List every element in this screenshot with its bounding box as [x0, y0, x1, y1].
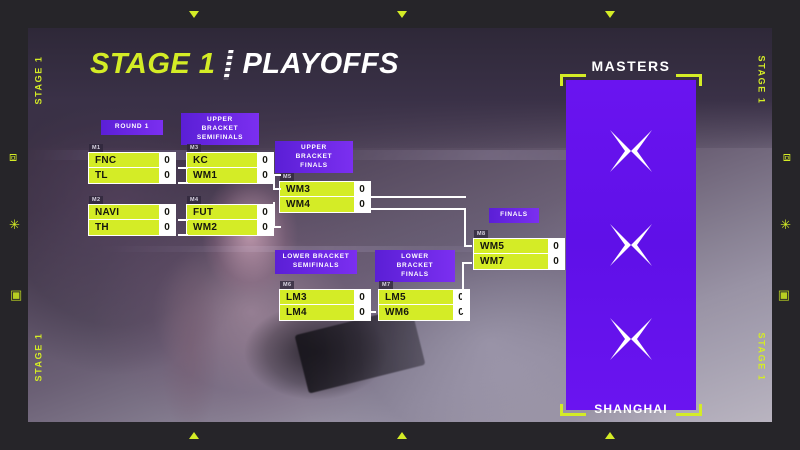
table-row[interactable]: FNC 0	[89, 153, 175, 168]
match-id: M6	[280, 281, 294, 289]
table-row[interactable]: LM5 0	[379, 290, 469, 305]
match-card[interactable]: M8 WM5 0 WM7 0	[473, 238, 565, 270]
team-score: 0	[257, 220, 273, 235]
connector	[273, 174, 275, 188]
table-row[interactable]: WM3 0	[280, 182, 370, 197]
team-score: 0	[257, 153, 273, 167]
team-score: 0	[354, 197, 370, 212]
match-id: M7	[379, 281, 393, 289]
table-row[interactable]: LM3 0	[280, 290, 370, 305]
table-row[interactable]: NAVI 0	[89, 205, 175, 220]
match-card[interactable]: M3 KC 0 WM1 0	[186, 152, 274, 184]
team-name: WM6	[379, 305, 453, 320]
connector	[178, 182, 188, 184]
team-name: NAVI	[89, 205, 159, 219]
match-id: M2	[89, 196, 103, 204]
table-row[interactable]: WM4 0	[280, 197, 370, 212]
table-row[interactable]: WM1 0	[187, 168, 273, 183]
team-score: 0	[257, 205, 273, 219]
corner-bracket-icon	[676, 74, 702, 86]
table-row[interactable]: TL 0	[89, 168, 175, 183]
team-score: 0	[548, 254, 564, 269]
match-card[interactable]: M1 FNC 0 TL 0	[88, 152, 176, 184]
connector-lower	[366, 311, 376, 313]
round-label-upper-finals: UPPER BRACKET FINALS	[275, 141, 353, 173]
team-name: WM5	[474, 239, 548, 253]
connector	[273, 188, 281, 190]
team-name: WM7	[474, 254, 548, 269]
team-name: FNC	[89, 153, 159, 167]
team-score: 0	[159, 220, 175, 235]
team-score: 0	[548, 239, 564, 253]
team-score: 0	[354, 182, 370, 196]
corner-bracket-icon	[560, 404, 586, 416]
team-score: 0	[354, 305, 370, 320]
connector	[273, 202, 275, 226]
round-label-lower-finals: LOWER BRACKET FINALS	[375, 250, 455, 282]
table-row[interactable]: KC 0	[187, 153, 273, 168]
match-card[interactable]: M7 LM5 0 WM6 0	[378, 289, 470, 321]
round-label-finals: FINALS	[489, 208, 539, 223]
match-card[interactable]: M4 FUT 0 WM2 0	[186, 204, 274, 236]
team-name: TH	[89, 220, 159, 235]
team-score: 0	[453, 290, 469, 304]
team-score: 0	[159, 168, 175, 183]
round-label-upper-semis: UPPER BRACKET SEMIFINALS	[181, 113, 259, 145]
connector-lower	[462, 262, 464, 312]
team-score: 0	[159, 205, 175, 219]
broadcast-graphic: STAGE 1 STAGE 1 STAGE 1 STAGE 1 ⧈ ✳ ▣ ⧈ …	[0, 0, 800, 450]
team-name: FUT	[187, 205, 257, 219]
connector	[178, 167, 188, 169]
team-name: WM4	[280, 197, 354, 212]
connector-upper-to-finals	[366, 208, 466, 210]
team-name: LM4	[280, 305, 354, 320]
team-name: TL	[89, 168, 159, 183]
round-label-lower-semis: LOWER BRACKET SEMIFINALS	[275, 250, 357, 274]
connector-upper-to-finals	[464, 208, 466, 246]
team-name: WM1	[187, 168, 257, 183]
match-id: M3	[187, 144, 201, 152]
table-row[interactable]: WM7 0	[474, 254, 564, 269]
team-score: 0	[257, 168, 273, 183]
table-row[interactable]: FUT 0	[187, 205, 273, 220]
connector-lower	[462, 262, 472, 264]
connector	[178, 234, 188, 236]
match-id: M1	[89, 144, 103, 152]
team-score: 0	[453, 305, 469, 320]
table-row[interactable]: WM2 0	[187, 220, 273, 235]
match-id: M5	[280, 173, 294, 181]
connector-upper-to-finals	[366, 196, 466, 198]
match-card[interactable]: M5 WM3 0 WM4 0	[279, 181, 371, 213]
team-score: 0	[354, 290, 370, 304]
match-card[interactable]: M6 LM3 0 LM4 0	[279, 289, 371, 321]
corner-bracket-icon	[676, 404, 702, 416]
team-name: WM3	[280, 182, 354, 196]
team-name: LM5	[379, 290, 453, 304]
team-score: 0	[159, 153, 175, 167]
team-name: WM2	[187, 220, 257, 235]
connector	[178, 219, 188, 221]
table-row[interactable]: LM4 0	[280, 305, 370, 320]
connector	[273, 226, 281, 228]
table-row[interactable]: TH 0	[89, 220, 175, 235]
team-name: LM3	[280, 290, 354, 304]
match-id: M8	[474, 230, 488, 238]
table-row[interactable]: WM6 0	[379, 305, 469, 320]
table-row[interactable]: WM5 0	[474, 239, 564, 254]
round-label-round1: ROUND 1	[101, 120, 163, 135]
match-id: M4	[187, 196, 201, 204]
team-name: KC	[187, 153, 257, 167]
connector-upper-to-finals	[464, 245, 472, 247]
match-card[interactable]: M2 NAVI 0 TH 0	[88, 204, 176, 236]
corner-bracket-icon	[560, 74, 586, 86]
bracket: ROUND 1 UPPER BRACKET SEMIFINALS UPPER B…	[0, 0, 800, 450]
